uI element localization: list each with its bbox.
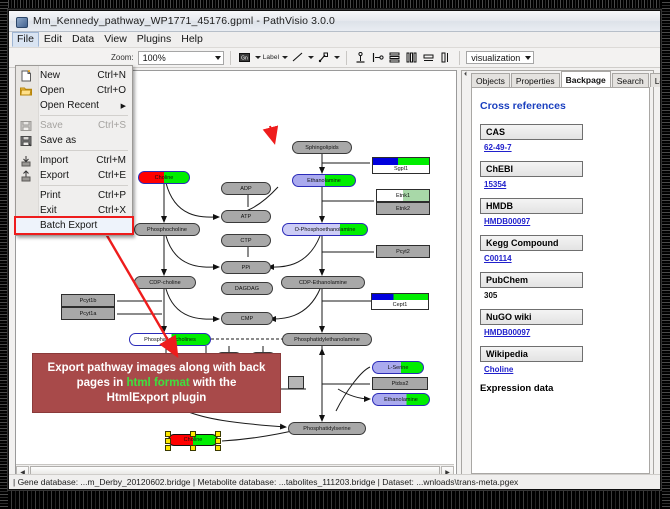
side-panel: ⏴ Objects Properties Backpage Search Leg… — [461, 70, 654, 478]
status-text: | Gene database: ...m_Derby_20120602.bri… — [9, 477, 518, 487]
tab-properties[interactable]: Properties — [511, 73, 560, 87]
file-menu-label-new: New — [40, 70, 97, 81]
file-menu-item-exit[interactable]: Exit Ctrl+X — [16, 203, 132, 218]
open-folder-icon — [20, 84, 33, 97]
file-menu-accel-new: Ctrl+N — [97, 70, 132, 81]
menu-bar[interactable]: File Edit Data View Plugins Help — [9, 32, 660, 48]
xref-label-cas: CAS — [480, 124, 583, 140]
expression-data-heading: Expression data — [480, 383, 641, 394]
file-menu-separator-1 — [40, 115, 128, 116]
frame-noise-left — [0, 0, 8, 509]
file-menu-accel-exit: Ctrl+X — [98, 205, 132, 216]
zoom-label: Zoom: — [111, 53, 134, 62]
file-menu-label-print: Print — [40, 190, 98, 201]
file-menu-label-exit: Exit — [40, 205, 98, 216]
menu-view[interactable]: View — [99, 32, 132, 47]
align-top-icon[interactable] — [353, 50, 368, 65]
line-dropdown-icon[interactable] — [308, 56, 314, 59]
submenu-arrow-icon: ▶ — [121, 102, 132, 110]
xref-value-chebi[interactable]: 15354 — [484, 180, 641, 189]
toolbar-separator-3 — [459, 51, 460, 65]
menu-data[interactable]: Data — [67, 32, 99, 47]
file-menu-item-open-recent[interactable]: Open Recent ▶ — [16, 98, 132, 113]
file-menu-accel-open: Ctrl+O — [97, 85, 132, 96]
file-menu-label-open: Open — [40, 85, 97, 96]
pathvisio-app-icon — [15, 15, 28, 28]
datanode-icon[interactable]: Gn — [237, 50, 252, 65]
menu-edit[interactable]: Edit — [39, 32, 67, 47]
file-menu-item-new[interactable]: New Ctrl+N — [16, 68, 132, 83]
import-icon — [20, 154, 33, 167]
zoom-combo[interactable]: 100% — [138, 51, 224, 65]
svg-text:Gn: Gn — [241, 56, 248, 62]
file-menu-label-open-recent: Open Recent — [40, 100, 121, 111]
interaction-icon[interactable] — [316, 50, 331, 65]
frame-noise-right — [662, 0, 670, 509]
xref-value-nugo[interactable]: HMDB00097 — [484, 328, 641, 337]
tab-legend[interactable]: Legend — [650, 73, 661, 87]
file-menu-item-import[interactable]: Import Ctrl+M — [16, 153, 132, 168]
frame-noise-bottom — [0, 487, 670, 509]
chevron-down-icon — [215, 56, 221, 60]
file-menu-item-batch-export[interactable]: Batch Export — [16, 218, 132, 233]
file-menu-item-save-as[interactable]: Save as — [16, 133, 132, 148]
status-bar: | Gene database: ...m_Derby_20120602.bri… — [9, 474, 660, 489]
window-title: Mm_Kennedy_pathway_WP1771_45176.gpml - P… — [33, 15, 335, 27]
tab-scroll-icon[interactable]: ⏴ — [464, 72, 467, 79]
file-menu-label-save-as: Save as — [40, 135, 126, 146]
file-menu-label-import: Import — [40, 155, 96, 166]
datanode-dropdown-icon[interactable] — [255, 56, 261, 59]
save-disk-icon — [20, 119, 33, 132]
file-menu-item-export[interactable]: Export Ctrl+E — [16, 168, 132, 183]
file-menu-separator-2 — [40, 150, 128, 151]
xref-value-pubchem: 305 — [484, 291, 641, 300]
file-menu-dropdown[interactable]: New Ctrl+N Open Ctrl+O Open Recent ▶ — [15, 65, 133, 236]
file-menu-item-save: Save Ctrl+S — [16, 118, 132, 133]
menu-plugins[interactable]: Plugins — [132, 32, 176, 47]
export-icon — [20, 169, 33, 182]
zoom-value: 100% — [143, 53, 166, 63]
xref-label-wikipedia: Wikipedia — [480, 346, 583, 362]
file-menu-item-open[interactable]: Open Ctrl+O — [16, 83, 132, 98]
backpage-panel: Cross references CAS 62-49-7 ChEBI 15354… — [471, 87, 650, 474]
save-as-icon — [20, 134, 33, 147]
side-panel-tabs[interactable]: Objects Properties Backpage Search Legen… — [462, 71, 653, 87]
label-dropdown-icon[interactable] — [282, 56, 288, 59]
xref-label-nugo: NuGO wiki — [480, 309, 583, 325]
align-left-icon[interactable] — [370, 50, 385, 65]
file-menu-separator-3 — [40, 185, 128, 186]
menu-file[interactable]: File — [12, 32, 39, 47]
menu-help[interactable]: Help — [176, 32, 208, 47]
toolbar-separator — [230, 51, 231, 65]
file-menu-accel-import: Ctrl+M — [96, 155, 132, 166]
file-menu-item-print[interactable]: Print Ctrl+P — [16, 188, 132, 203]
file-menu-label-save: Save — [40, 120, 98, 131]
tab-objects[interactable]: Objects — [471, 73, 510, 87]
new-document-icon — [20, 69, 33, 82]
xref-value-hmdb[interactable]: HMDB00097 — [484, 217, 641, 226]
file-menu-accel-print: Ctrl+P — [98, 190, 132, 201]
body-area: Choline Sphingolipids Ethanolamine ADP A… — [9, 68, 660, 488]
file-menu-label-export: Export — [40, 170, 98, 181]
same-width-icon[interactable] — [421, 50, 436, 65]
frame-noise-top — [0, 0, 670, 8]
backpage-heading: Cross references — [480, 100, 641, 112]
xref-label-pubchem: PubChem — [480, 272, 583, 288]
title-bar: Mm_Kennedy_pathway_WP1771_45176.gpml - P… — [9, 11, 660, 32]
same-height-icon[interactable] — [438, 50, 453, 65]
outer-frame: Mm_Kennedy_pathway_WP1771_45176.gpml - P… — [0, 0, 670, 509]
chevron-down-icon-2 — [525, 56, 531, 60]
xref-label-hmdb: HMDB — [480, 198, 583, 214]
xref-label-chebi: ChEBI — [480, 161, 583, 177]
xref-value-kegg[interactable]: C00114 — [484, 254, 641, 263]
visualization-combo[interactable]: visualization — [466, 51, 534, 64]
xref-label-kegg: Kegg Compound — [480, 235, 583, 251]
visualization-value: visualization — [471, 53, 520, 63]
interaction-dropdown-icon[interactable] — [334, 56, 340, 59]
file-menu-accel-export: Ctrl+E — [98, 170, 132, 181]
xref-value-wikipedia[interactable]: Choline — [484, 365, 641, 374]
xref-value-cas[interactable]: 62-49-7 — [484, 143, 641, 152]
label-button[interactable]: Label — [263, 54, 280, 61]
tab-backpage[interactable]: Backpage — [561, 71, 611, 87]
distribute-horizontal-icon[interactable] — [404, 50, 419, 65]
tab-search[interactable]: Search — [612, 73, 649, 87]
distribute-vertical-icon[interactable] — [387, 50, 402, 65]
line-icon[interactable] — [290, 50, 305, 65]
file-menu-label-batch-export: Batch Export — [40, 220, 132, 231]
pathvisio-window: Mm_Kennedy_pathway_WP1771_45176.gpml - P… — [8, 10, 661, 490]
toolbar-separator-2 — [346, 51, 347, 65]
file-menu-accel-save: Ctrl+S — [98, 120, 132, 131]
